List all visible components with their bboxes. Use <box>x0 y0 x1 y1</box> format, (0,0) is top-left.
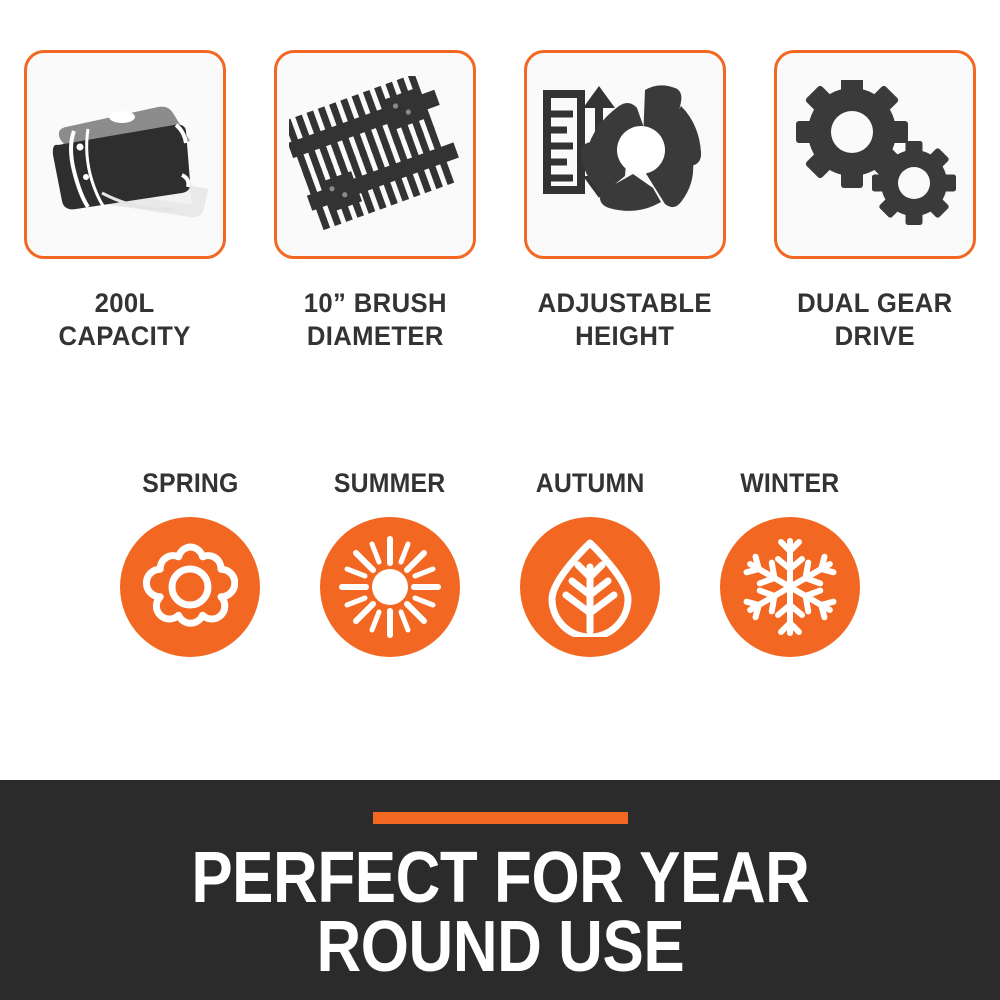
flower-icon <box>142 539 238 635</box>
snowflake-icon <box>740 537 840 637</box>
season-circle-autumn <box>520 517 660 657</box>
banner-heading-line2: ROUND USE <box>191 913 809 982</box>
season-circle-spring <box>120 517 260 657</box>
feature-label-line1: 10” BRUSH <box>303 288 446 318</box>
feature-label-capacity: 200L CAPACITY <box>59 287 191 353</box>
season-item-winter: WINTER <box>690 468 890 688</box>
sun-icon <box>338 535 442 639</box>
feature-icon-box-adjustable-height <box>524 50 726 259</box>
bottom-banner: PERFECT FOR YEAR ROUND USE <box>0 780 1000 1000</box>
feature-label-dual-gear-drive: DUAL GEAR DRIVE <box>797 287 952 353</box>
grass-catcher-bag-icon <box>40 85 210 225</box>
feature-label-brush-diameter: 10” BRUSH DIAMETER <box>303 287 446 353</box>
feature-label-line1: ADJUSTABLE <box>538 288 712 318</box>
feature-highlights-row: 200L CAPACITY <box>0 50 1000 380</box>
feature-label-adjustable-height: ADJUSTABLE HEIGHT <box>538 287 712 353</box>
banner-divider-rule <box>373 812 628 824</box>
season-circle-summer <box>320 517 460 657</box>
feature-label-line1: DUAL GEAR <box>797 288 952 318</box>
banner-heading-line1: PERFECT FOR YEAR <box>191 838 809 918</box>
season-item-spring: SPRING <box>90 468 290 688</box>
feature-item-capacity: 200L CAPACITY <box>0 50 250 380</box>
feature-icon-box-brush-diameter <box>274 50 476 259</box>
ruler-height-blade-icon <box>541 80 709 230</box>
season-label-winter: WINTER <box>740 468 839 499</box>
season-label-summer: SUMMER <box>334 468 446 499</box>
feature-icon-box-dual-gear-drive <box>774 50 976 259</box>
feature-icon-box-capacity <box>24 50 226 259</box>
feature-label-line2: DRIVE <box>797 320 952 353</box>
feature-item-brush-diameter: 10” BRUSH DIAMETER <box>250 50 500 380</box>
season-item-summer: SUMMER <box>290 468 490 688</box>
dual-gears-icon <box>792 80 958 230</box>
seasons-row: SPRING SUMMER <box>0 468 1000 688</box>
feature-item-adjustable-height: ADJUSTABLE HEIGHT <box>500 50 750 380</box>
brush-bristle-strip-icon <box>289 76 461 234</box>
feature-label-line2: DIAMETER <box>303 320 446 353</box>
feature-item-dual-gear-drive: DUAL GEAR DRIVE <box>750 50 1000 380</box>
season-label-spring: SPRING <box>142 468 238 499</box>
season-item-autumn: AUTUMN <box>490 468 690 688</box>
feature-label-line2: HEIGHT <box>538 320 712 353</box>
leaf-icon <box>544 537 636 637</box>
feature-label-line1: 200L <box>95 288 155 318</box>
feature-label-line2: CAPACITY <box>59 320 191 353</box>
season-circle-winter <box>720 517 860 657</box>
banner-heading: PERFECT FOR YEAR ROUND USE <box>191 844 809 982</box>
season-label-autumn: AUTUMN <box>536 468 645 499</box>
